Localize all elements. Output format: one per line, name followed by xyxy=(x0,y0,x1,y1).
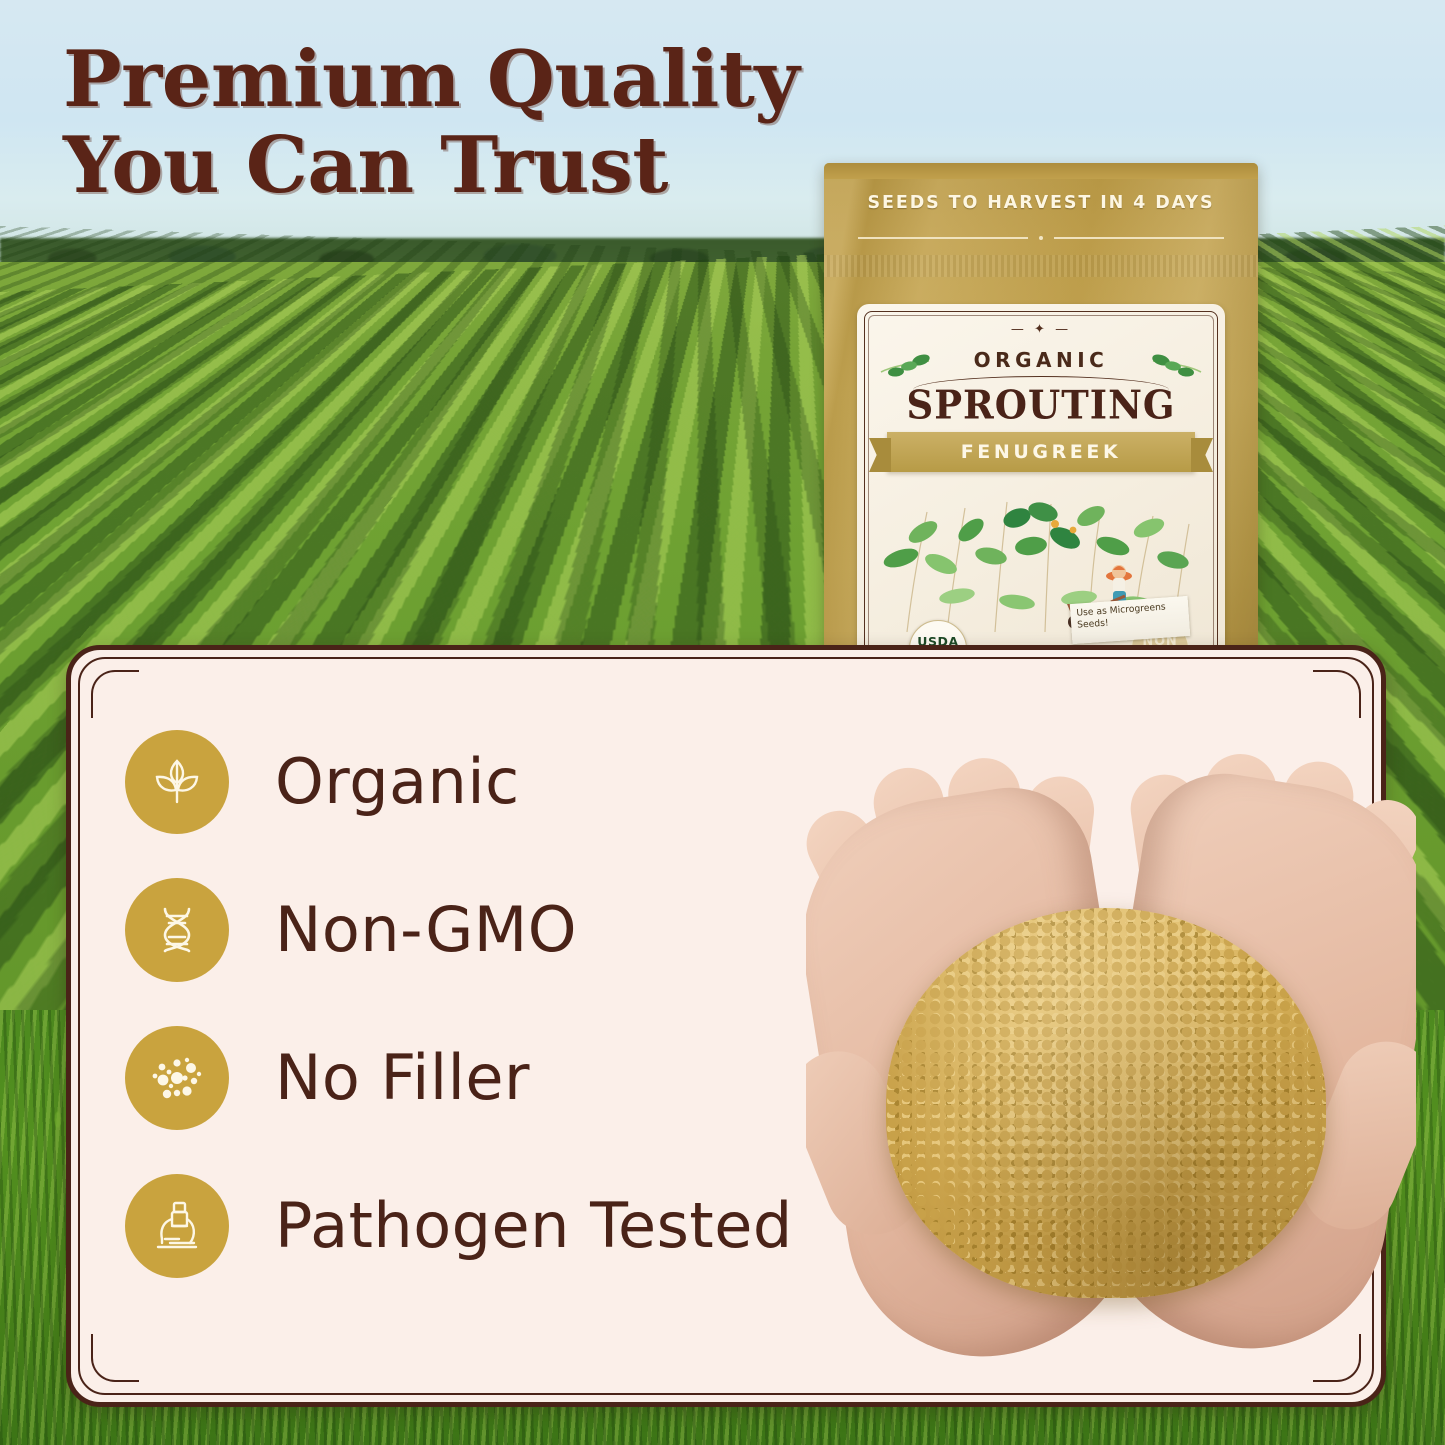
feature-item-organic: Organic xyxy=(125,708,885,856)
feature-label-no-filler: No Filler xyxy=(275,1047,530,1109)
card-corner-top-right xyxy=(1313,670,1361,718)
package-zipper-seal xyxy=(824,255,1258,277)
headline-line-2: You Can Trust xyxy=(63,128,883,204)
microgreens-sticker: Use as Microgreens Seeds! xyxy=(1070,596,1191,644)
feature-list: Organic Non-GMO xyxy=(125,708,885,1300)
feature-item-non-gmo: Non-GMO xyxy=(125,856,885,1004)
card-corner-bottom-left xyxy=(91,1334,139,1382)
page-title: Premium Quality You Can Trust xyxy=(63,42,883,205)
headline-line-1: Premium Quality xyxy=(63,34,799,125)
package-top-band xyxy=(824,163,1258,179)
product-marketing-image: Premium Quality You Can Trust SEEDS TO H… xyxy=(0,0,1445,1445)
dna-icon xyxy=(125,878,229,982)
feature-label-pathogen-tested: Pathogen Tested xyxy=(275,1195,793,1257)
leaf-icon xyxy=(125,730,229,834)
label-flourish-ornament: — ✦ — xyxy=(857,322,1225,337)
label-organic-text: ORGANIC xyxy=(857,348,1225,372)
feature-label-non-gmo: Non-GMO xyxy=(275,899,577,961)
label-ribbon-banner: FENUGREEK xyxy=(887,432,1195,472)
hands-holding-seeds-photo xyxy=(806,718,1416,1418)
package-tagline: SEEDS TO HARVEST IN 4 DAYS xyxy=(824,193,1258,213)
fenugreek-seed-mound xyxy=(886,908,1326,1298)
dots-icon xyxy=(125,1026,229,1130)
label-variety-text: FENUGREEK xyxy=(887,432,1195,472)
package-divider xyxy=(858,233,1224,243)
microscope-icon xyxy=(125,1174,229,1278)
feature-label-organic: Organic xyxy=(275,751,520,813)
feature-item-pathogen-tested: Pathogen Tested xyxy=(125,1152,885,1300)
feature-item-no-filler: No Filler xyxy=(125,1004,885,1152)
seed-shading-overlay xyxy=(886,908,1326,1298)
